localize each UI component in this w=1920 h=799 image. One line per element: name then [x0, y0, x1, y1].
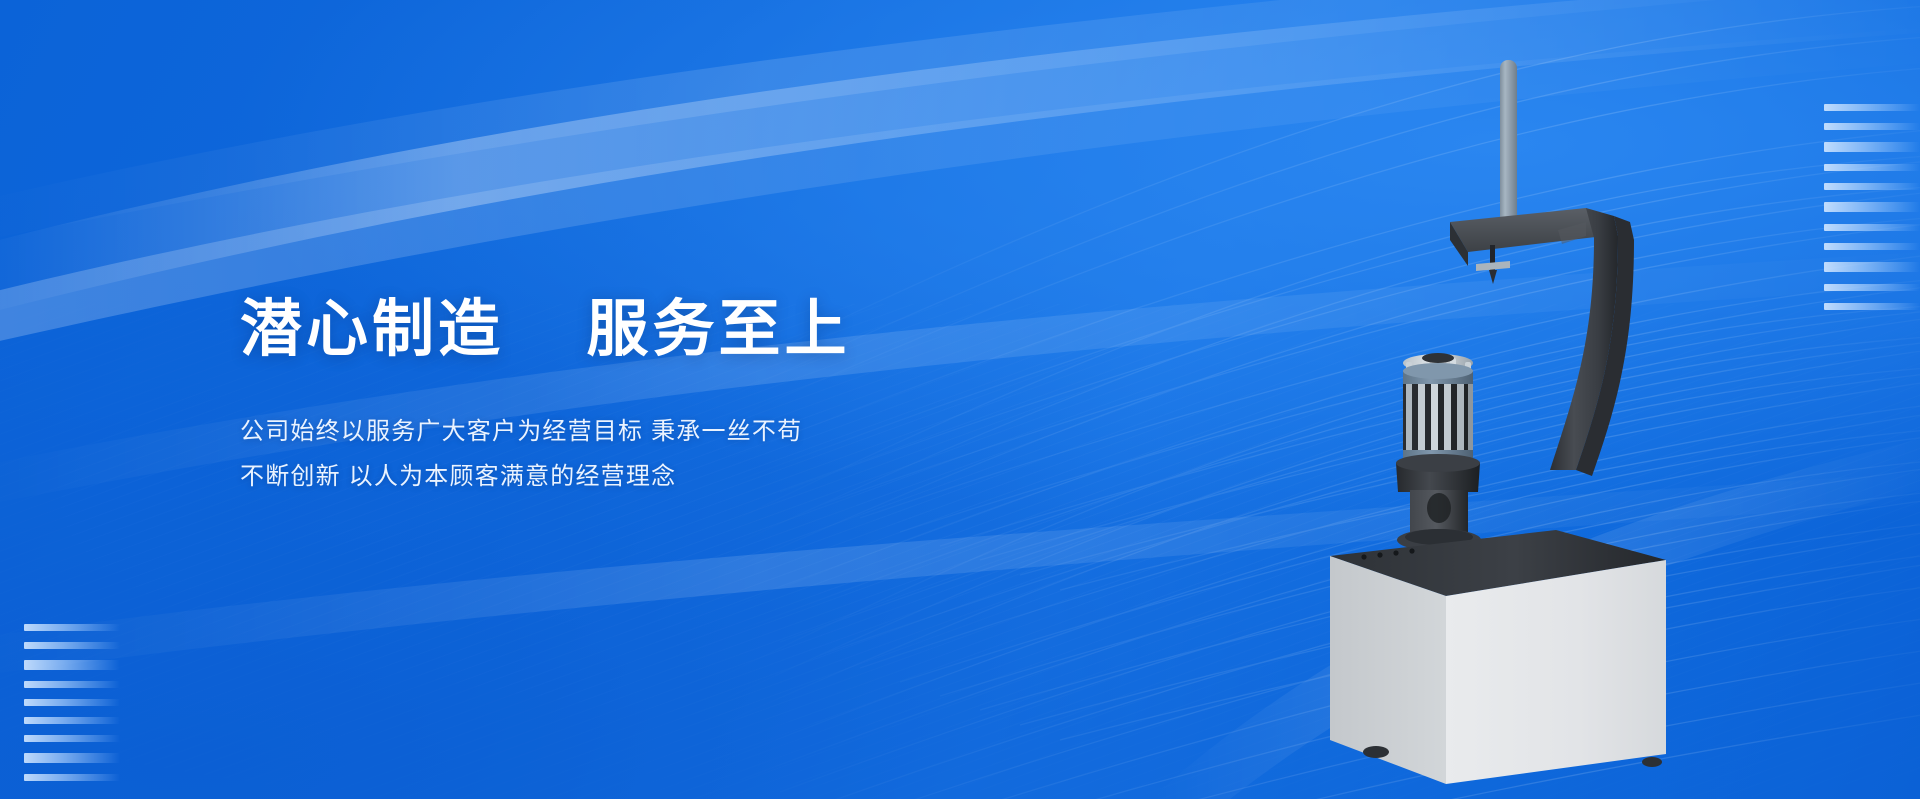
- decor-bar: [1824, 183, 1920, 190]
- decor-bar: [24, 753, 120, 763]
- decor-bar: [1824, 142, 1920, 152]
- decor-bar: [24, 735, 120, 742]
- probe-tip: [1489, 270, 1497, 284]
- c-frame-column: [1550, 208, 1618, 470]
- decor-bar: [24, 660, 120, 670]
- decor-bar: [24, 624, 120, 631]
- decor-bar: [1824, 104, 1920, 111]
- decor-bar: [24, 717, 120, 724]
- decor-bar: [1824, 243, 1920, 250]
- head-center-boss: [1422, 353, 1454, 363]
- decor-bar: [1824, 284, 1920, 291]
- decor-bar: [24, 681, 120, 688]
- decor-bar: [24, 774, 120, 781]
- product-image: [1318, 40, 1738, 799]
- head-upper-band-top: [1403, 363, 1473, 379]
- decor-bars-bottom-left: [0, 624, 120, 781]
- decor-bar: [1824, 303, 1920, 310]
- decor-bar: [24, 642, 120, 649]
- headline-part-2: 服务至上: [586, 295, 850, 364]
- banner-subtitle: 公司始终以服务广大客户为经营目标 秉承一丝不苟 不断创新 以人为本顾客满意的经营…: [240, 410, 1100, 499]
- decor-bar: [1824, 123, 1920, 130]
- hero-banner: 潜心制造 服务至上 公司始终以服务广大客户为经营目标 秉承一丝不苟 不断创新 以…: [0, 0, 1920, 799]
- subtitle-line-1: 公司始终以服务广大客户为经营目标 秉承一丝不苟: [240, 410, 1100, 454]
- decor-bar: [1824, 202, 1920, 212]
- probe-crossbar: [1476, 261, 1510, 271]
- page-title: 潜心制造 服务至上: [240, 296, 1100, 364]
- decor-bar: [1824, 164, 1920, 171]
- machine-illustration: [1318, 40, 1738, 799]
- headline-part-1: 潜心制造: [240, 295, 504, 364]
- decor-bars-right: [1804, 104, 1920, 310]
- banner-copy: 潜心制造 服务至上 公司始终以服务广大客户为经营目标 秉承一丝不苟 不断创新 以…: [240, 296, 1100, 499]
- subtitle-line-2: 不断创新 以人为本顾客满意的经营理念: [240, 455, 1100, 499]
- cabinet-foot-left: [1363, 746, 1389, 758]
- spindle-port: [1427, 493, 1451, 523]
- decor-bar: [24, 699, 120, 706]
- guide-rod: [1500, 60, 1517, 240]
- decor-bar: [1824, 224, 1920, 231]
- cabinet-front: [1446, 560, 1666, 784]
- cabinet-foot-right: [1642, 757, 1662, 767]
- head-collar-top: [1396, 454, 1480, 472]
- decor-bar: [1824, 262, 1920, 272]
